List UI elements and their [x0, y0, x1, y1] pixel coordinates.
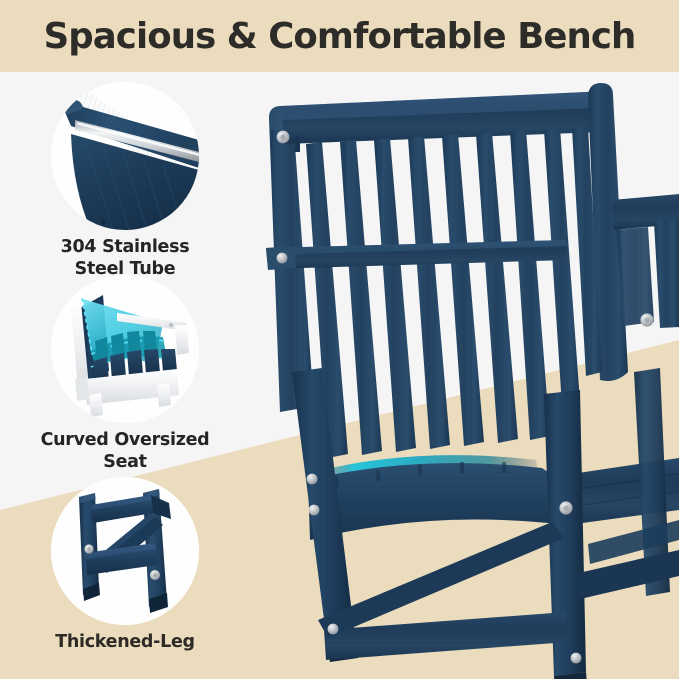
thickened-leg-thumbnail: [51, 477, 199, 625]
feature-label-line1: 304 Stainless: [8, 237, 242, 259]
product-photo: [236, 72, 679, 679]
feature-callout-thickened-leg[interactable]: Thickened-Leg: [0, 477, 250, 654]
feature-label-curved-seat: Curved Oversized Seat: [0, 430, 250, 473]
feature-label-line1: Thickened-Leg: [8, 632, 242, 654]
feature-label-line1: Curved Oversized: [8, 430, 242, 452]
bench-seat: [308, 455, 679, 540]
header-banner: Spacious & Comfortable Bench: [0, 0, 679, 72]
thumbnail-wrapper: [0, 82, 250, 230]
thumbnail-wrapper: [0, 275, 250, 423]
feature-callout-curved-seat[interactable]: Curved Oversized Seat: [0, 275, 250, 473]
infographic-canvas: Spacious & Comfortable Bench: [0, 0, 679, 679]
feature-label-line2: Seat: [8, 452, 242, 474]
page-title: Spacious & Comfortable Bench: [44, 16, 636, 57]
feature-label-stainless-tube: 304 Stainless Steel Tube: [0, 237, 250, 280]
thumbnail-wrapper: [0, 477, 250, 625]
feature-label-thickened-leg: Thickened-Leg: [0, 632, 250, 654]
feature-callout-list: 304 Stainless Steel Tube: [0, 72, 250, 679]
feature-callout-stainless-tube[interactable]: 304 Stainless Steel Tube: [0, 82, 250, 280]
curved-oversized-seat-thumbnail: [51, 275, 199, 423]
stainless-steel-tube-thumbnail: [51, 82, 199, 230]
